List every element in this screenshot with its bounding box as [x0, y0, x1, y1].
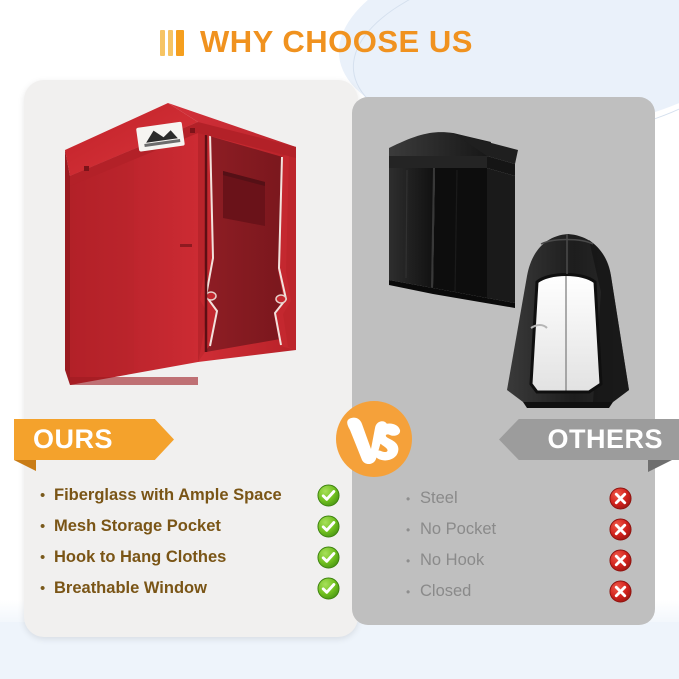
list-item: • Closed — [406, 576, 632, 607]
ours-banner: OURS — [14, 419, 174, 460]
others-banner-fold — [648, 460, 672, 472]
versus-badge — [336, 401, 412, 477]
infographic-canvas: WHY CHOOSE US — [0, 0, 679, 679]
ours-feature-list: • Fiberglass with Ample Space • Mesh Sto… — [40, 480, 340, 604]
check-icon — [317, 577, 340, 600]
others-feature-label: No Hook — [420, 551, 609, 570]
bullet-icon: • — [40, 550, 54, 565]
others-banner: OTHERS — [499, 419, 679, 460]
list-item: • No Pocket — [406, 514, 632, 545]
list-item: • Fiberglass with Ample Space — [40, 480, 340, 511]
cross-icon — [609, 549, 632, 572]
check-icon — [317, 546, 340, 569]
list-item: • Breathable Window — [40, 573, 340, 604]
cross-icon — [609, 580, 632, 603]
ours-feature-label: Breathable Window — [54, 579, 317, 598]
ours-feature-label: Fiberglass with Ample Space — [54, 486, 317, 505]
bullet-icon: • — [40, 519, 54, 534]
others-feature-label: Steel — [420, 489, 609, 508]
list-item: • Steel — [406, 483, 632, 514]
list-item: • No Hook — [406, 545, 632, 576]
others-feature-label: No Pocket — [420, 520, 609, 539]
black-pod-tent-product-image — [497, 232, 640, 412]
three-bars-icon — [160, 28, 184, 56]
bullet-icon: • — [406, 524, 420, 536]
others-feature-label: Closed — [420, 582, 609, 601]
ours-feature-label: Hook to Hang Clothes — [54, 548, 317, 567]
ours-banner-label: OURS — [33, 424, 113, 455]
others-banner-label: OTHERS — [547, 424, 663, 455]
vs-icon — [344, 411, 404, 467]
bullet-icon: • — [40, 581, 54, 596]
check-icon — [317, 515, 340, 538]
page-title-text: WHY CHOOSE US — [200, 24, 473, 60]
others-feature-list: • Steel • No Pocket • No Hook — [406, 483, 632, 607]
cross-icon — [609, 518, 632, 541]
page-title: WHY CHOOSE US — [160, 24, 473, 60]
list-item: • Mesh Storage Pocket — [40, 511, 340, 542]
red-canopy-product-image — [60, 100, 312, 412]
ours-feature-label: Mesh Storage Pocket — [54, 517, 317, 536]
cross-icon — [609, 487, 632, 510]
bullet-icon: • — [406, 586, 420, 598]
bullet-icon: • — [406, 493, 420, 505]
list-item: • Hook to Hang Clothes — [40, 542, 340, 573]
bullet-icon: • — [406, 555, 420, 567]
bullet-icon: • — [40, 488, 54, 503]
check-icon — [317, 484, 340, 507]
